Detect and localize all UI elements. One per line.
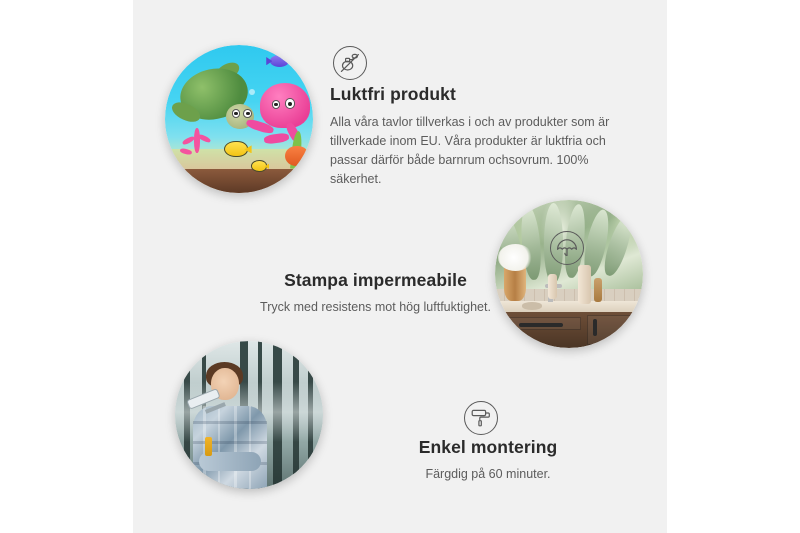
plaid-stripe [193, 421, 267, 424]
features-panel: Luktfri produkt Alla våra tavlor tillver… [133, 0, 667, 533]
plaid-stripe [234, 406, 237, 489]
underwater-cartoon-scene-photo [165, 45, 313, 193]
octopus-eye [272, 100, 281, 109]
yellow-fish-icon [251, 160, 267, 172]
feature-description: Tryck med resistens mot hög luftfuktighe… [158, 298, 593, 317]
turtle-eye [232, 109, 241, 118]
hand-tool [205, 437, 212, 456]
octopus-eye [285, 98, 295, 108]
plaid-stripe [218, 406, 220, 489]
feature-description: Färgdig på 60 minuter. [323, 465, 653, 484]
feature-title: Enkel montering [323, 437, 653, 459]
sea-bottom-strip [165, 169, 313, 193]
umbrella-icon [550, 231, 584, 265]
decor-box [594, 278, 601, 302]
coral [180, 128, 218, 166]
person-torso [193, 406, 267, 489]
drawer-handle [519, 323, 563, 327]
feature-text-easy-install: Enkel montering Färgdig på 60 minuter. [323, 437, 653, 484]
no-odor-spray-bottle-icon [333, 46, 367, 80]
wood-vanity-cabinet [495, 312, 643, 348]
paint-roller-icon [464, 401, 498, 435]
feature-description: Alla våra tavlor tillverkas i och av pro… [330, 113, 630, 189]
feature-title: Luktfri produkt [330, 84, 630, 106]
plaid-stripe [193, 441, 267, 444]
crab [285, 146, 309, 167]
plaid-stripe [249, 406, 251, 489]
screenshot-root: Luktfri produkt Alla våra tavlor tillver… [0, 0, 800, 533]
yellow-fish-icon [224, 141, 248, 157]
feature-text-odorless: Luktfri produkt Alla våra tavlor tillver… [330, 84, 630, 189]
feature-title: Stampa impermeabile [158, 270, 593, 292]
woman-paint-roller-forest-photo [175, 341, 323, 489]
feature-text-waterproof: Stampa impermeabile Tryck med resistens … [158, 270, 593, 317]
turtle-eye [243, 109, 252, 118]
door-handle [593, 319, 597, 336]
